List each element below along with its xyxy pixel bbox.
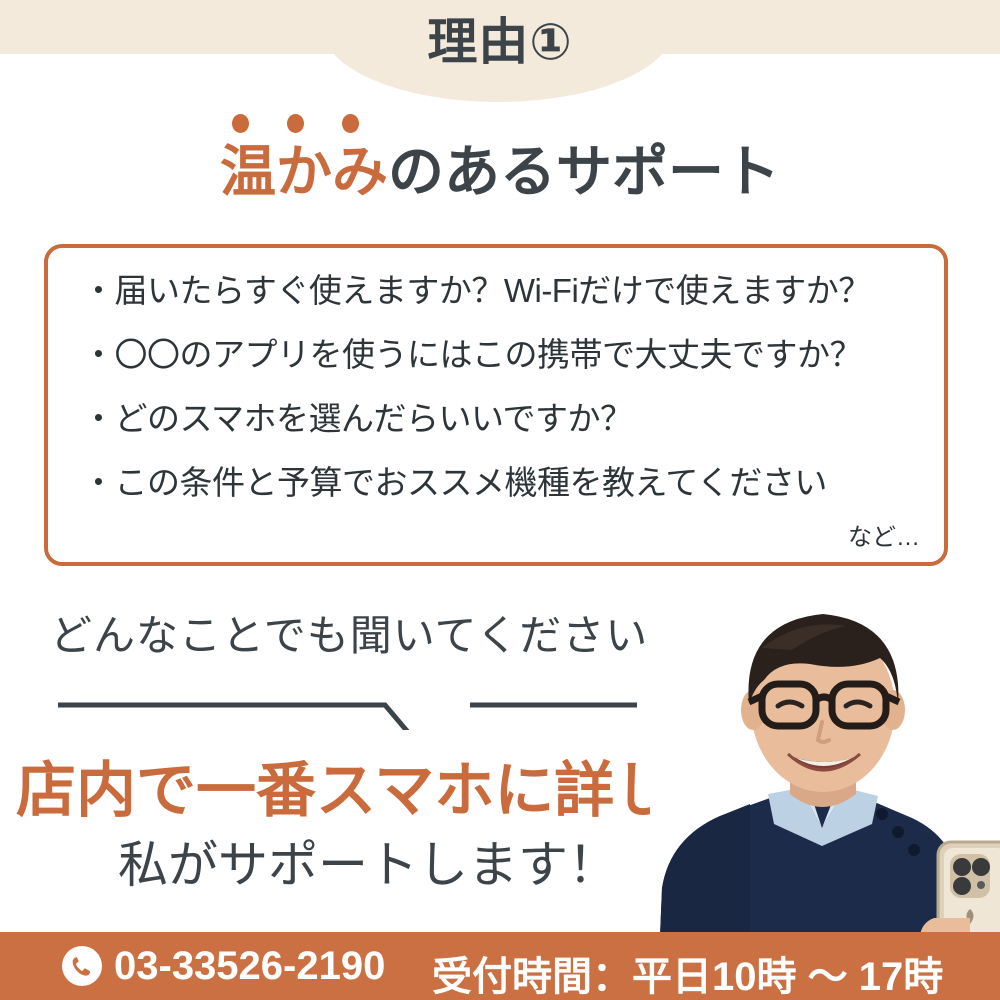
emphasis-dot-icon [342, 114, 359, 133]
subtitle-highlight: 温かみ [220, 140, 388, 203]
staff-photo [650, 588, 1000, 936]
trailing-note: など… [848, 517, 920, 552]
ask-anything-text: どんなことでも聞いてください！ [50, 602, 691, 663]
list-item: ・どのスマホを選んだらいいですか？ [82, 402, 928, 435]
emphasis-dot-icon [287, 114, 304, 133]
emphasis-dot-icon [232, 114, 249, 133]
headline-main: 店内で一番スマホに詳しい [16, 742, 734, 829]
list-item: ・この条件と予算でおススメ機種を教えてください [82, 466, 928, 499]
emphasis-dots [232, 114, 362, 134]
phone-icon[interactable] [62, 946, 102, 986]
question-box: ・届いたらすぐ使えますか？Wi-Fiだけで使えますか？ ・〇〇のアプリを使うには… [44, 244, 948, 566]
headline-sub: 私がサポートします！ [118, 825, 618, 897]
footer-bar: 03-33526-2190 受付時間：平日10時 〜 17時 [0, 932, 1000, 1000]
speech-underline-icon [40, 660, 660, 730]
subtitle: 温かみのあるサポート [0, 140, 1000, 204]
footer-business-hours: 受付時間：平日10時 〜 17時 [432, 944, 943, 1000]
poster-root: 理由① 温かみのあるサポート ・届いたらすぐ使えますか？Wi-Fiだけで使えます… [0, 0, 1000, 1000]
list-item: ・届いたらすぐ使えますか？Wi-Fiだけで使えますか？ [82, 274, 928, 307]
footer-telephone-number[interactable]: 03-33526-2190 [114, 944, 385, 989]
question-list: ・届いたらすぐ使えますか？Wi-Fiだけで使えますか？ ・〇〇のアプリを使うには… [82, 274, 928, 499]
staff-photo-illustration [650, 588, 1000, 936]
list-item: ・〇〇のアプリを使うにはこの携帯で大丈夫ですか？ [82, 338, 928, 371]
subtitle-rest: のあるサポート [388, 140, 780, 203]
page-title: 理由① [0, 16, 1000, 69]
